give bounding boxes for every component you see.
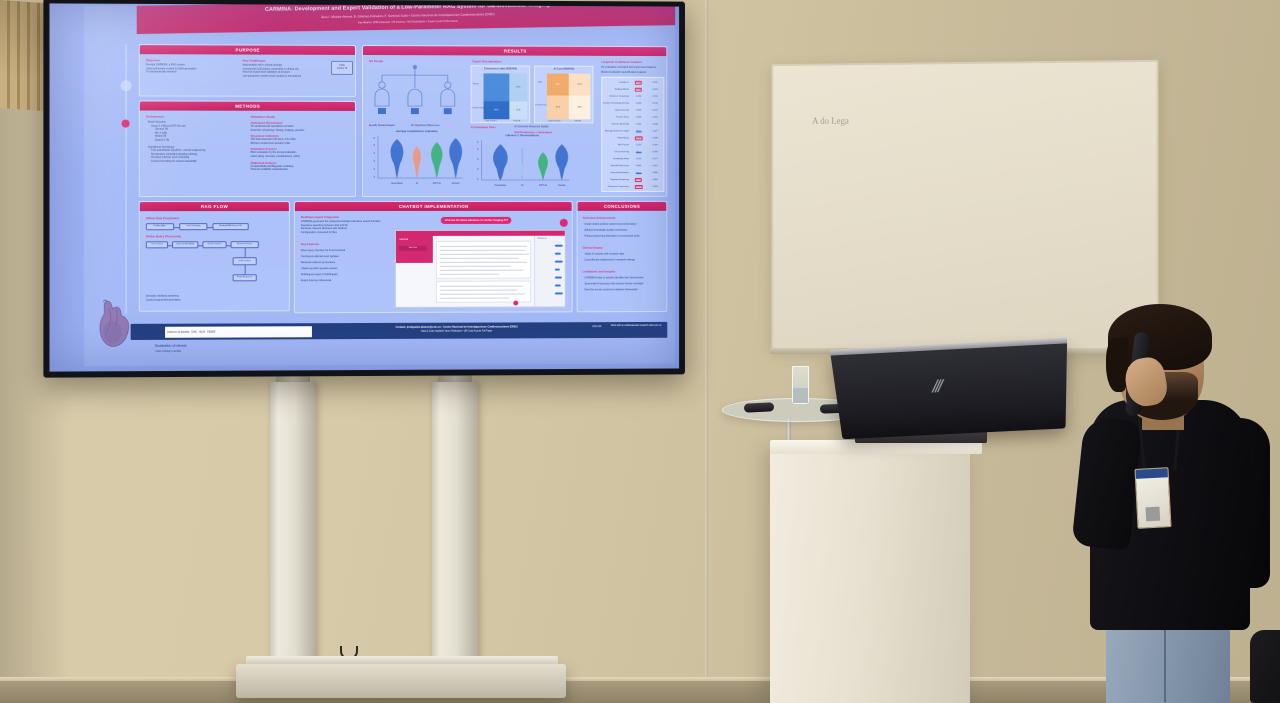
conference-badge [1134, 467, 1171, 529]
badge-name-line [1139, 480, 1165, 481]
presenter [1060, 300, 1280, 703]
badge-header [1136, 468, 1168, 479]
tv-stand-base [236, 664, 566, 698]
display-screen[interactable]: CARMINA: Development and Expert Validati… [43, 0, 685, 378]
hp-logo-icon: /// [931, 377, 941, 396]
tv-stand-column-left [270, 382, 316, 662]
conference-room-scene: A do Lega CARMINA: Development and Exper… [0, 0, 1280, 703]
water-fill [793, 388, 808, 403]
hp-confidence-monitor[interactable]: /// [830, 341, 1067, 439]
presenter-hair-side [1106, 338, 1128, 392]
badge-affiliation-line [1140, 490, 1166, 491]
water-glass [792, 366, 809, 404]
microphone-left[interactable] [744, 402, 774, 413]
wall-seam [705, 0, 708, 703]
backpack [1250, 630, 1280, 703]
presentation-podium [770, 448, 970, 703]
whiteboard-note: A do Lega [812, 115, 849, 127]
tv-stand-column-right [432, 382, 478, 662]
presenter-jeans [1106, 618, 1230, 703]
badge-qr-code [1145, 507, 1160, 522]
display-bezel [43, 0, 685, 378]
presenter-jeans-seam [1164, 622, 1166, 702]
